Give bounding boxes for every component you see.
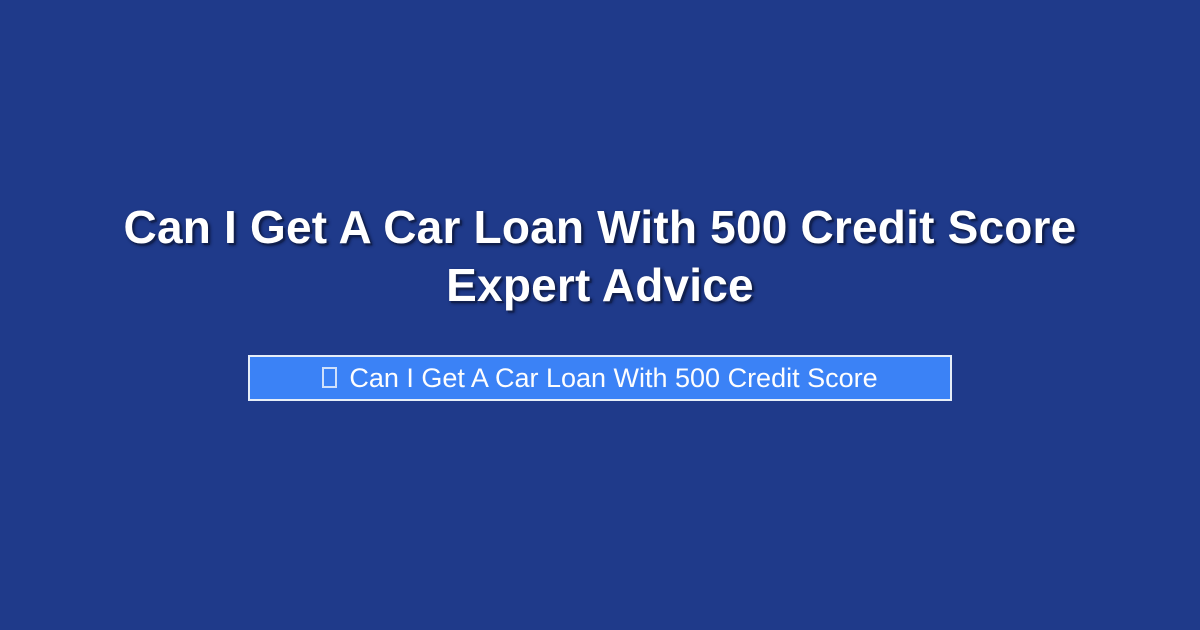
og-image-card: Can I Get A Car Loan With 500 Credit Sco… <box>0 0 1200 630</box>
missing-glyph-box-icon <box>322 367 337 388</box>
cta-button-label: Can I Get A Car Loan With 500 Credit Sco… <box>349 363 877 393</box>
content-stack: Can I Get A Car Loan With 500 Credit Sco… <box>0 0 1200 630</box>
page-title: Can I Get A Car Loan With 500 Credit Sco… <box>60 198 1140 314</box>
cta-button[interactable]: Can I Get A Car Loan With 500 Credit Sco… <box>248 355 952 401</box>
